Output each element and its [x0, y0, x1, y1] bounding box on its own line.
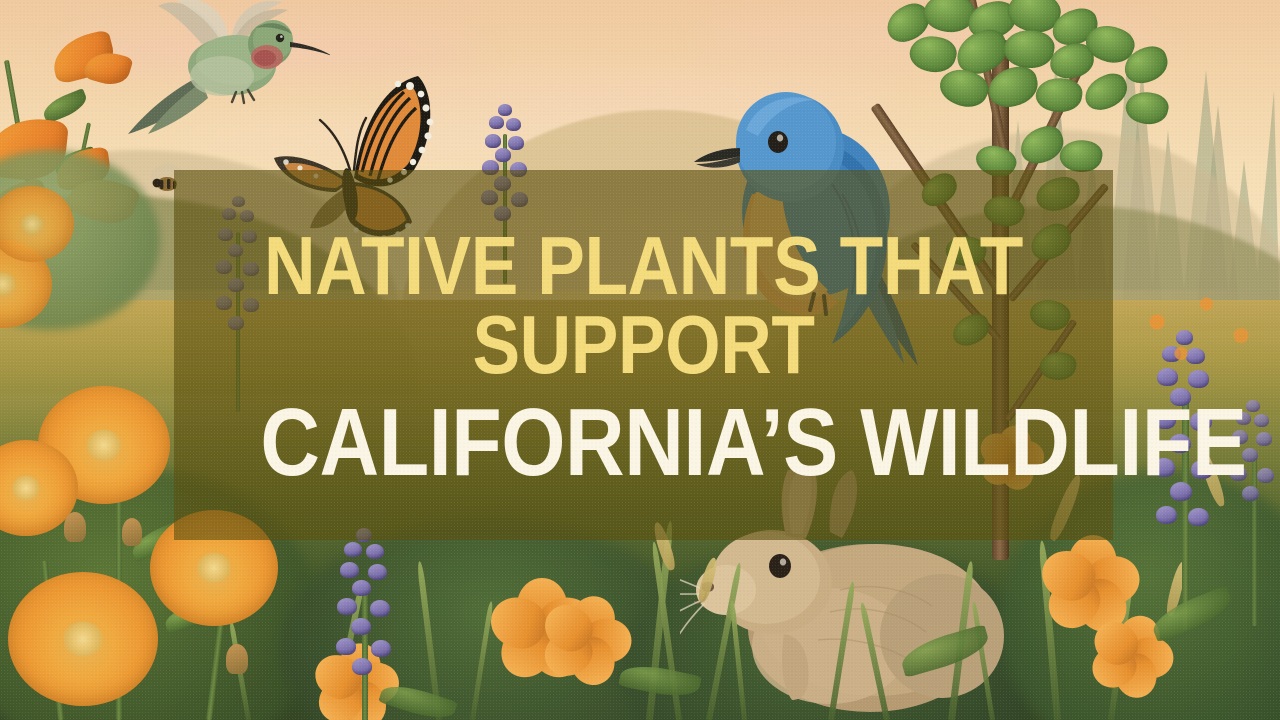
title-card: NATIVE PLANTS THAT SUPPORT CALIFORNIA’S …: [0, 0, 1280, 720]
poppy-bud: [64, 512, 86, 542]
title-line-3: CALIFORNIA’S WILDLIFE: [260, 399, 1026, 487]
poppy-bud: [122, 518, 142, 546]
background-flowers: [1124, 286, 1274, 376]
title-overlay-panel: NATIVE PLANTS THAT SUPPORT CALIFORNIA’S …: [174, 170, 1113, 540]
title-line-2: SUPPORT: [260, 307, 1026, 383]
poppy-bud: [226, 644, 248, 674]
title-block: NATIVE PLANTS THAT SUPPORT CALIFORNIA’S …: [198, 228, 1089, 487]
title-line-1: NATIVE PLANTS THAT: [260, 228, 1026, 304]
